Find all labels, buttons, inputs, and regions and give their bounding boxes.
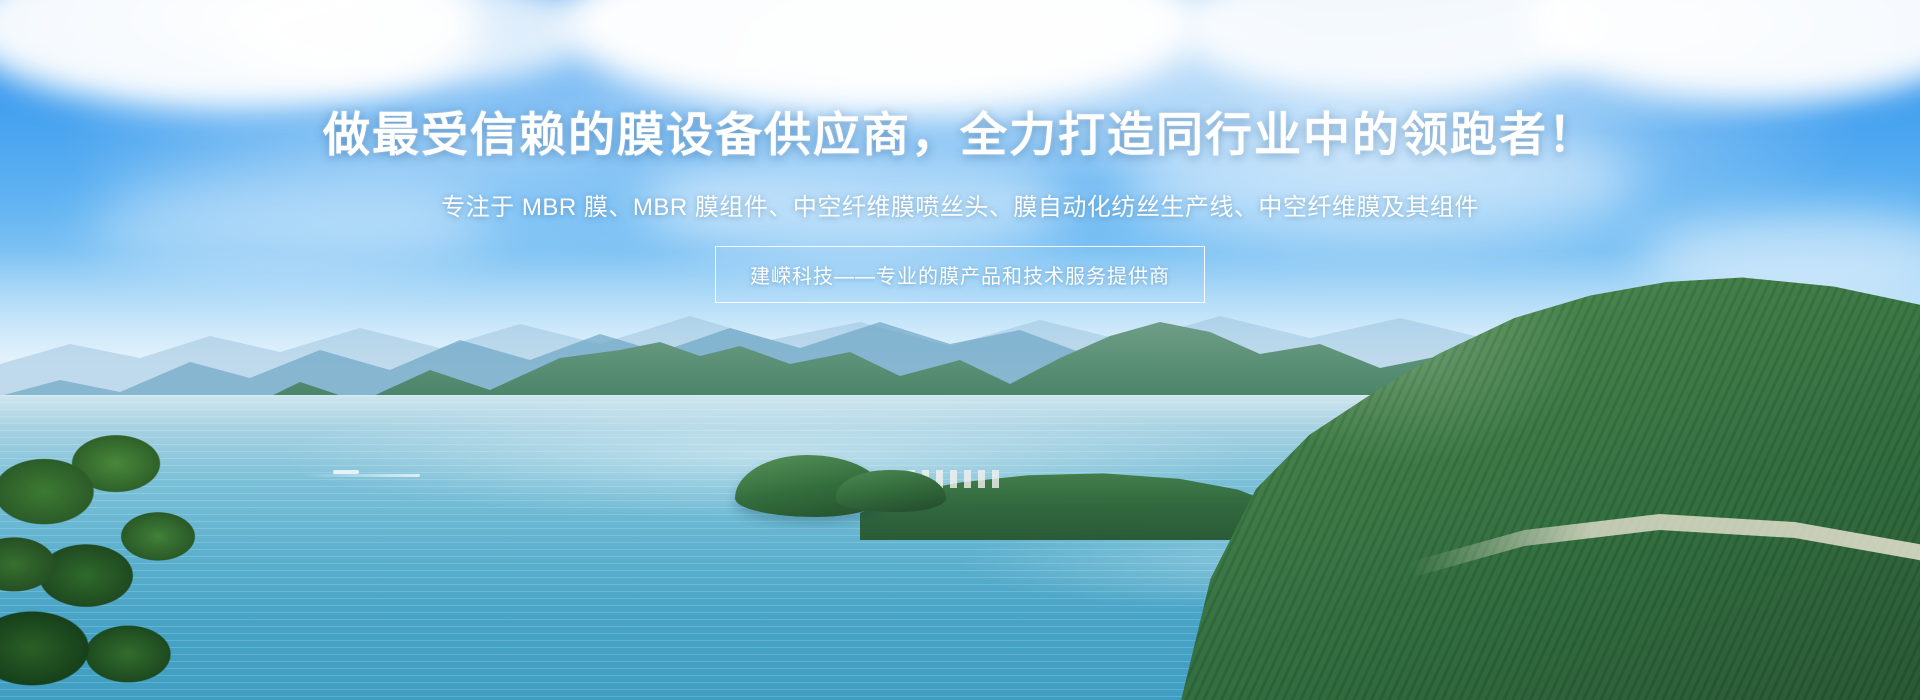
banner-headline: 做最受信赖的膜设备供应商，全力打造同行业中的领跑者！ — [323, 96, 1597, 165]
foreground-foliage-left — [0, 430, 290, 700]
banner-subheadline: 专注于 MBR 膜、MBR 膜组件、中空纤维膜喷丝头、膜自动化纺丝生产线、中空纤… — [441, 187, 1479, 222]
hero-banner: 做最受信赖的膜设备供应商，全力打造同行业中的领跑者！ 专注于 MBR 膜、MBR… — [0, 0, 1920, 700]
boat — [333, 470, 359, 474]
boat-wake — [300, 474, 420, 477]
cloud-shape — [1530, 0, 1920, 101]
banner-tagline-box: 建嵘科技——专业的膜产品和技术服务提供商 — [715, 246, 1205, 303]
